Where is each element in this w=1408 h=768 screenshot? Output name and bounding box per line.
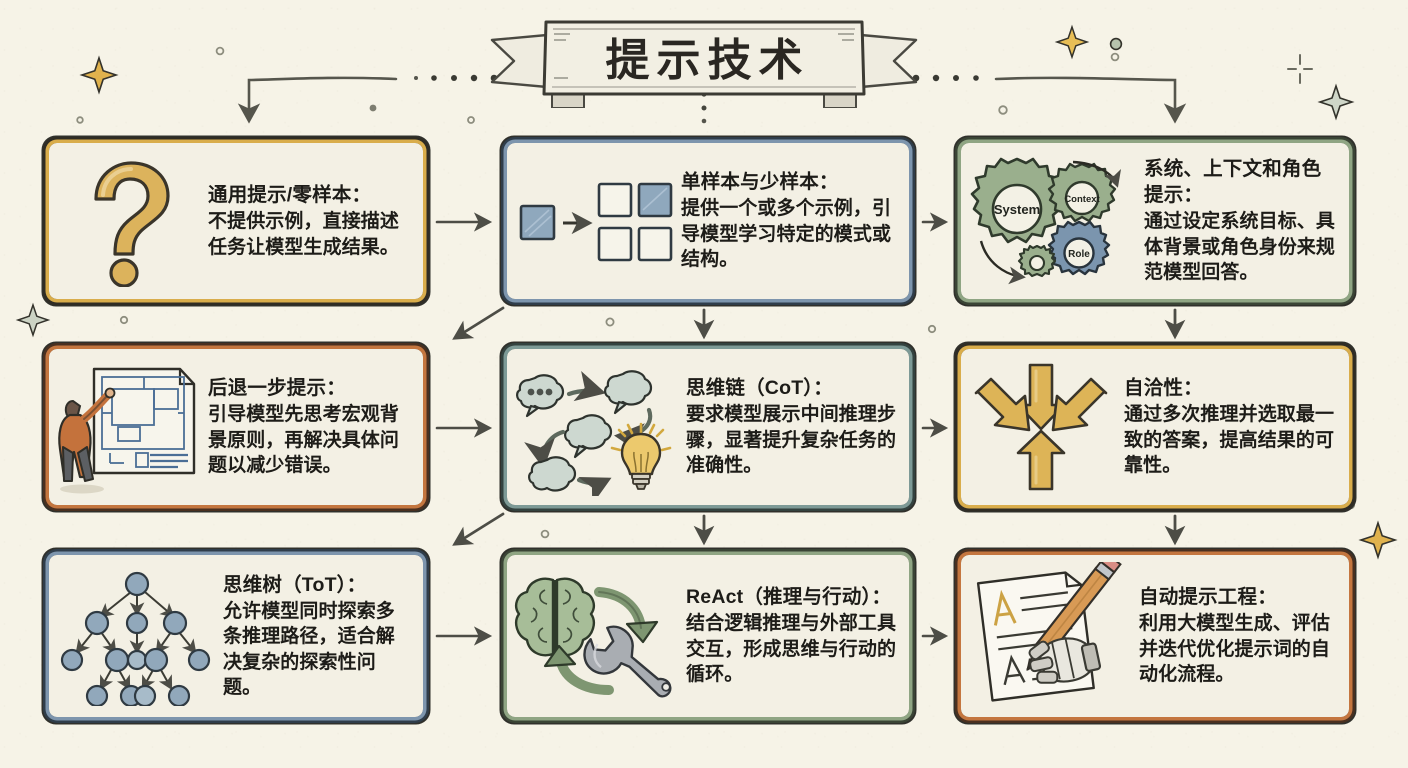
card-title: 后退一步提示： (208, 375, 412, 401)
card-body: 通过多次推理并选取最一致的答案，提高结果的可靠性。 (1124, 402, 1338, 478)
page-title: 提示技术 (488, 20, 920, 92)
card-body: 通过设定系统目标、具体背景或角色身份来规范模型回答。 (1144, 209, 1338, 285)
card-step-back-prompting[interactable]: 后退一步提示： 引导模型先思考宏观背景原则，再解决具体问题以减少错误。 (44, 344, 428, 510)
card-title: ReAct（推理与行动）： (686, 584, 898, 610)
card-react[interactable]: ReAct（推理与行动）： 结合逻辑推理与外部工具交互，形成思维与行动的循环。 (502, 550, 914, 722)
star-bottom-right-icon (1361, 523, 1395, 557)
gear-label-role: Role (1068, 249, 1090, 260)
card-body: 引导模型先思考宏观背景原则，再解决具体问题以减少错误。 (208, 402, 412, 478)
card-automatic-prompt-engineering[interactable]: 自动提示工程： 利用大模型生成、评估并迭代优化提示词的自动化流程。 (956, 550, 1354, 722)
gear-label-context: Context (1064, 194, 1100, 205)
card-title: 自洽性： (1124, 375, 1338, 401)
card-body: 不提供示例，直接描述任务让模型生成结果。 (208, 209, 412, 260)
card-body: 要求模型展示中间推理步骤，显著提升复杂任务的准确性。 (686, 402, 898, 478)
brain-wrench-cycle-icon (512, 560, 682, 712)
star-top-right-icon (1320, 86, 1352, 118)
card-title: 思维链（CoT）： (686, 375, 898, 401)
arrow-card5-card7 (455, 514, 503, 544)
title-banner: 提示技术 (488, 12, 920, 108)
gear-label-system: System (994, 202, 1040, 217)
card-tree-of-thoughts[interactable]: 思维树（ToT）： 允许模型同时探索多条推理路径，适合解决复杂的探索性问题。 (44, 550, 428, 722)
card-system-context-role[interactable]: System Context Role 系统、上 (956, 138, 1354, 304)
tree-graph-icon (54, 560, 219, 712)
robot-hand-pencil-icon (966, 560, 1131, 712)
question-mark-icon (54, 148, 204, 294)
card-title: 单样本与少样本： (681, 169, 898, 195)
card-title: 通用提示/零样本： (208, 182, 412, 208)
thought-bubbles-lightbulb-icon (512, 354, 682, 500)
example-squares-icon (512, 148, 677, 294)
card-body: 提供一个或多个示例，引导模型学习特定的模式或结构。 (681, 196, 898, 272)
card-chain-of-thought[interactable]: 思维链（CoT）： 要求模型展示中间推理步骤，显著提升复杂任务的准确性。 (502, 344, 914, 510)
star-mid-left-icon (18, 305, 48, 335)
card-body: 利用大模型生成、评估并迭代优化提示词的自动化流程。 (1139, 611, 1338, 687)
star-banner-right-icon (1057, 27, 1087, 57)
card-general-zero-shot[interactable]: 通用提示/零样本： 不提供示例，直接描述任务让模型生成结果。 (44, 138, 428, 304)
card-title: 系统、上下文和角色提示： (1144, 156, 1338, 208)
connector-banner-to-card1 (249, 75, 497, 120)
sparkle-cross-icon (1288, 55, 1312, 83)
card-body: 结合逻辑推理与外部工具交互，形成思维与行动的循环。 (686, 611, 898, 687)
blueprint-person-icon (54, 354, 204, 500)
arrow-card2-card4 (455, 308, 503, 338)
converging-arrows-icon (966, 354, 1116, 500)
card-self-consistency[interactable]: 自洽性： 通过多次推理并选取最一致的答案，提高结果的可靠性。 (956, 344, 1354, 510)
star-top-left-icon (82, 58, 116, 92)
card-title: 自动提示工程： (1139, 584, 1338, 610)
card-title: 思维树（ToT）： (223, 572, 412, 598)
connector-banner-to-card3 (913, 75, 1175, 120)
card-one-shot-few-shot[interactable]: 单样本与少样本： 提供一个或多个示例，引导模型学习特定的模式或结构。 (502, 138, 914, 304)
gears-icon: System Context Role (966, 148, 1136, 294)
card-body: 允许模型同时探索多条推理路径，适合解决复杂的探索性问题。 (223, 599, 412, 701)
